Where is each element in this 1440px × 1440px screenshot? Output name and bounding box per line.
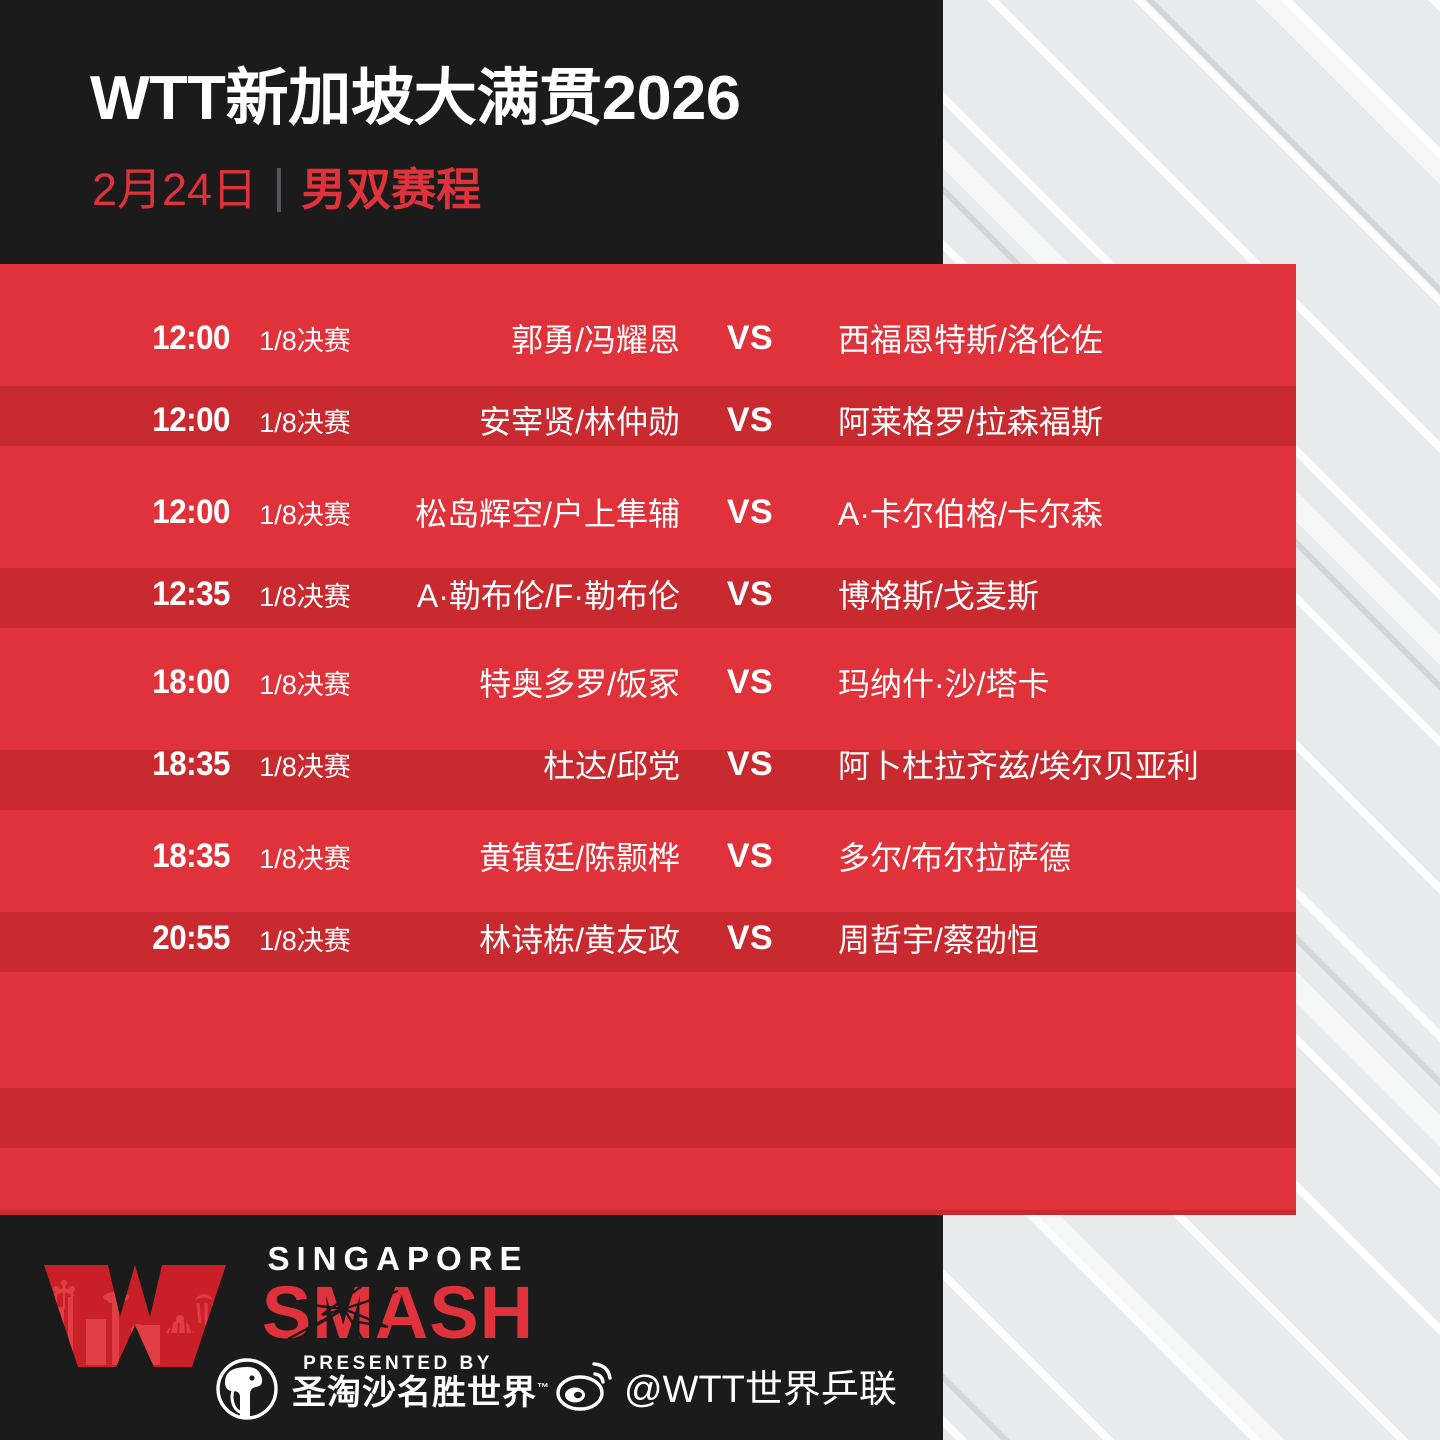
team-left: 安宰贤/林仲勋 (380, 397, 680, 443)
match-stage: 1/8决赛 (230, 493, 380, 532)
smash-wordmark: SINGAPORE SMASH PRESENTED (248, 1241, 548, 1375)
table-row[interactable]: 12:001/8决赛安宰贤/林仲勋VS阿莱格罗/拉森福斯 (0, 392, 1296, 448)
team-left: 杜达/邱党 (380, 741, 680, 787)
team-right: 多尔/布尔拉萨德 (820, 833, 1296, 879)
team-right: 博格斯/戈麦斯 (820, 571, 1296, 617)
match-time: 20:55 (18, 919, 230, 958)
versus-label: VS (680, 663, 820, 702)
smash-word-wrap: SMASH (248, 1275, 548, 1351)
band-alt-4 (0, 1088, 1296, 1148)
weibo-icon[interactable] (556, 1360, 614, 1412)
match-stage: 1/8决赛 (230, 919, 380, 958)
match-time: 12:35 (18, 575, 230, 614)
header-panel: WTT新加坡大满贯2026 2月24日 男双赛程 (0, 0, 943, 264)
social-lockup[interactable]: @WTT世界乒联 (556, 1358, 897, 1413)
table-row[interactable]: 20:551/8决赛林诗栋/黄友政VS周哲宇/蔡劭恒 (0, 910, 1296, 966)
header-divider (277, 168, 281, 212)
match-stage: 1/8决赛 (230, 745, 380, 784)
header-event-label: 男双赛程 (301, 166, 481, 214)
match-stage: 1/8决赛 (230, 663, 380, 702)
match-time: 12:00 (18, 401, 230, 440)
sponsor-lockup: 圣淘沙名胜世界™ (216, 1358, 550, 1420)
versus-label: VS (680, 837, 820, 876)
versus-label: VS (680, 319, 820, 358)
sponsor-trademark: ™ (537, 1380, 550, 1394)
sentosa-merlion-icon (216, 1358, 278, 1420)
team-right: A·卡尔伯格/卡尔森 (820, 489, 1296, 535)
sponsor-name: 圣淘沙名胜世界™ (292, 1365, 550, 1414)
team-left: A·勒布伦/F·勒布伦 (380, 571, 680, 617)
page-title: WTT新加坡大满贯2026 (90, 66, 740, 132)
match-time: 18:35 (18, 837, 230, 876)
team-right: 周哲宇/蔡劭恒 (820, 915, 1296, 961)
match-stage: 1/8决赛 (230, 401, 380, 440)
header-subline: 2月24日 男双赛程 (92, 166, 481, 214)
match-time: 18:35 (18, 745, 230, 784)
social-handle[interactable]: @WTT世界乒联 (624, 1358, 897, 1413)
table-row[interactable]: 18:001/8决赛特奥多罗/饭冢VS玛纳什·沙/塔卡 (0, 654, 1296, 710)
team-left: 林诗栋/黄友政 (380, 915, 680, 961)
versus-label: VS (680, 575, 820, 614)
schedule-panel: 12:001/8决赛郭勇/冯耀恩VS西福恩特斯/洛伦佐12:001/8决赛安宰贤… (0, 264, 1296, 1215)
table-row[interactable]: 12:001/8决赛郭勇/冯耀恩VS西福恩特斯/洛伦佐 (0, 310, 1296, 366)
smash-word: SMASH (262, 1271, 534, 1354)
match-time: 18:00 (18, 663, 230, 702)
match-stage: 1/8决赛 (230, 837, 380, 876)
versus-label: VS (680, 401, 820, 440)
team-left: 特奥多罗/饭冢 (380, 659, 680, 705)
match-stage: 1/8决赛 (230, 575, 380, 614)
poster-canvas: WTT新加坡大满贯2026 2月24日 男双赛程 12:001/8决赛郭勇/冯耀… (0, 0, 1440, 1440)
team-right: 玛纳什·沙/塔卡 (820, 659, 1296, 705)
wtt-w-mark-icon (42, 1263, 228, 1369)
sponsor-name-text: 圣淘沙名胜世界 (292, 1374, 537, 1412)
team-left: 黄镇廷/陈颢桦 (380, 833, 680, 879)
header-date: 2月24日 (92, 166, 257, 214)
table-row[interactable]: 12:001/8决赛松岛辉空/户上隼辅VSA·卡尔伯格/卡尔森 (0, 484, 1296, 540)
table-row[interactable]: 18:351/8决赛黄镇廷/陈颢桦VS多尔/布尔拉萨德 (0, 828, 1296, 884)
versus-label: VS (680, 745, 820, 784)
team-left: 松岛辉空/户上隼辅 (380, 489, 680, 535)
team-left: 郭勇/冯耀恩 (380, 315, 680, 361)
table-row[interactable]: 12:351/8决赛A·勒布伦/F·勒布伦VS博格斯/戈麦斯 (0, 566, 1296, 622)
versus-label: VS (680, 919, 820, 958)
match-stage: 1/8决赛 (230, 319, 380, 358)
team-right: 阿卜杜拉齐兹/埃尔贝亚利 (820, 741, 1296, 787)
team-right: 西福恩特斯/洛伦佐 (820, 315, 1296, 361)
match-time: 12:00 (18, 493, 230, 532)
match-time: 12:00 (18, 319, 230, 358)
versus-label: VS (680, 493, 820, 532)
team-right: 阿莱格罗/拉森福斯 (820, 397, 1296, 443)
table-row[interactable]: 18:351/8决赛杜达/邱党VS阿卜杜拉齐兹/埃尔贝亚利 (0, 736, 1296, 792)
